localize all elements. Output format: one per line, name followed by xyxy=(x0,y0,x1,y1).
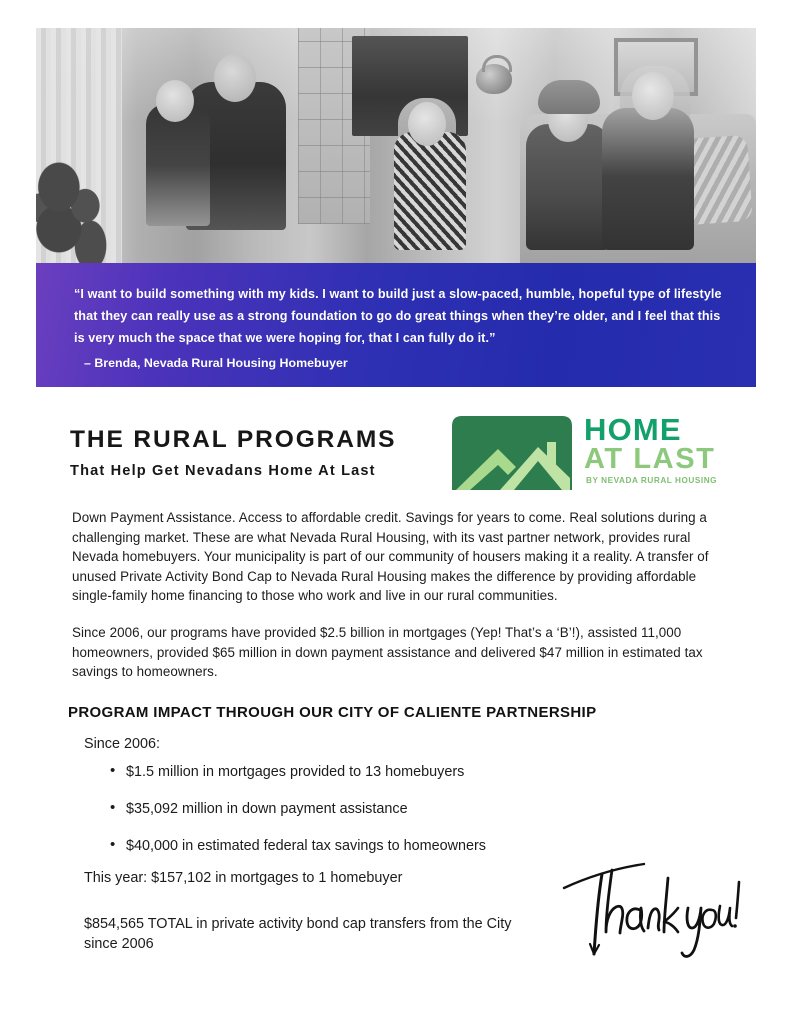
body-copy: Down Payment Assistance. Access to affor… xyxy=(72,508,736,699)
home-at-last-logo: HOME AT LAST BY NEVADA RURAL HOUSING xyxy=(452,414,718,498)
photo-person-father-head xyxy=(214,54,256,102)
photo-kettle xyxy=(476,64,512,94)
roofline-logo-icon xyxy=(452,416,572,490)
photo-person-girl-head xyxy=(408,102,446,146)
logo-byline-text: BY NEVADA RURAL HOUSING xyxy=(586,476,717,485)
testimonial-band: “I want to build something with my kids.… xyxy=(36,263,756,387)
closing-block: This year: $157,102 in mortgages to 1 ho… xyxy=(84,868,544,954)
logo-wordmark: HOME AT LAST BY NEVADA RURAL HOUSING xyxy=(584,414,717,485)
photo-person-boy-head xyxy=(156,80,194,122)
photo-person-mother-body xyxy=(602,108,694,250)
flyer-page: “I want to build something with my kids.… xyxy=(0,0,791,1024)
page-subtitle: That Help Get Nevadans Home At Last xyxy=(70,463,396,479)
thank-you-script xyxy=(556,858,746,966)
photo-person-child-bear-hat xyxy=(538,80,600,114)
section-heading-program-impact: PROGRAM IMPACT THROUGH OUR CITY OF CALIE… xyxy=(68,704,596,721)
list-item: $1.5 million in mortgages provided to 13… xyxy=(110,762,724,782)
page-title: THE RURAL PROGRAMS xyxy=(70,426,396,454)
hero-photograph xyxy=(36,28,756,264)
headline-logo-row: THE RURAL PROGRAMS That Help Get Nevadan… xyxy=(36,414,756,500)
logo-home-text: HOME xyxy=(584,414,717,446)
photo-houseplant xyxy=(36,160,124,264)
photo-person-mother-head xyxy=(632,72,674,120)
photo-person-boy-body xyxy=(146,104,210,226)
headline-block: THE RURAL PROGRAMS That Help Get Nevadan… xyxy=(70,426,396,479)
list-item: $35,092 million in down payment assistan… xyxy=(110,799,724,819)
this-year-stat: This year: $157,102 in mortgages to 1 ho… xyxy=(84,868,544,888)
testimonial-quote: “I want to build something with my kids.… xyxy=(74,283,734,349)
photo-person-child-body xyxy=(526,124,610,250)
testimonial-attribution: – Brenda, Nevada Rural Housing Homebuyer xyxy=(84,352,734,374)
impact-lead-since-2006: Since 2006: xyxy=(84,734,724,754)
body-paragraph-1: Down Payment Assistance. Access to affor… xyxy=(72,508,736,606)
total-transfers-stat: $854,565 TOTAL in private activity bond … xyxy=(84,914,544,954)
logo-at-last-text: AT LAST xyxy=(584,444,717,474)
list-item: $40,000 in estimated federal tax savings… xyxy=(110,836,724,856)
photo-person-girl-body xyxy=(394,132,466,250)
impact-block: Since 2006: $1.5 million in mortgages pr… xyxy=(84,734,724,873)
impact-bullet-list: $1.5 million in mortgages provided to 13… xyxy=(84,762,724,856)
body-paragraph-2: Since 2006, our programs have provided $… xyxy=(72,623,736,682)
